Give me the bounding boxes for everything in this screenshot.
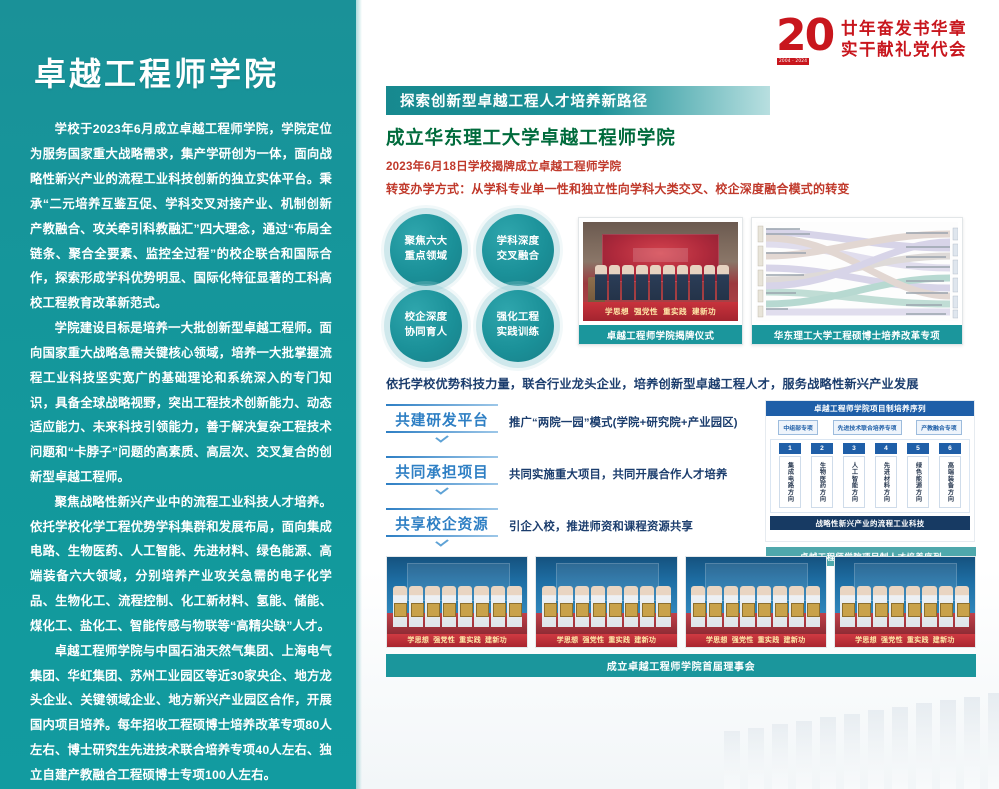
bubble-line1: 校企深度 — [405, 312, 448, 323]
sankey-diagram — [756, 222, 958, 321]
column-number: 3 — [843, 443, 865, 454]
anniversary-number: 20 — [776, 14, 832, 58]
slogan-word: 学思想 — [407, 635, 429, 645]
diagram-column: 4 先进材料方向 — [873, 443, 899, 508]
diagram-tags: 中组部专项 先进技术联合培养专项 产教融合专项 — [766, 416, 974, 437]
decorative-stripe — [796, 721, 812, 789]
key-row-platform: 共建研发平台 推广“两院一园”模式(学院+研究院+产业园区) — [386, 404, 738, 437]
anniversary-20-icon: 20 2004 · 2024 — [776, 14, 832, 66]
decorative-stripe — [844, 714, 860, 789]
diagram-columns: 1 集成电路方向 2 生物医药方向 3 人工智能方向 4 先进材料方向 5 — [770, 439, 970, 513]
slogan-word: 重实践 — [608, 635, 630, 645]
bubble-line1: 强化工程 — [497, 312, 540, 323]
bubble-practice-training: 强化工程实践训练 — [482, 290, 554, 362]
column-label: 绿色能源方向 — [907, 456, 929, 508]
intro-paragraph: 学院建设目标是培养一大批创新型卓越工程师。面向国家重大战略急需关键核心领域，培养… — [30, 316, 332, 490]
diagram-column: 1 集成电路方向 — [777, 443, 803, 508]
diagram-column: 2 生物医药方向 — [809, 443, 835, 508]
slogan-word: 建新功 — [485, 635, 507, 645]
tag-line-top — [386, 508, 498, 510]
award-group — [840, 586, 969, 627]
bubble-line2: 实践训练 — [497, 327, 540, 338]
diagram-column: 6 高端装备方向 — [937, 443, 963, 508]
decorative-stripe — [940, 700, 956, 789]
section-header-label: 探索创新型卓越工程人才培养新路径 — [400, 90, 648, 111]
column-label: 生物医药方向 — [811, 456, 833, 508]
award-photo: 学思想 强党性 重实践 建新功 — [386, 556, 528, 648]
key-row-projects: 共同承担项目 共同实施重大项目，共同开展合作人才培养 — [386, 456, 727, 489]
slogan-word: 强党性 — [433, 635, 455, 645]
diagram-column: 5 绿色能源方向 — [905, 443, 931, 508]
bubble-line2: 交叉融合 — [497, 251, 540, 262]
decorative-stripe — [916, 703, 932, 789]
sankey-svg — [756, 222, 958, 321]
column-number: 4 — [875, 443, 897, 454]
slogan-word: 建新功 — [634, 635, 656, 645]
diagram-tag: 中组部专项 — [778, 420, 817, 435]
key-tag-label: 共享校企资源 — [386, 513, 498, 534]
anniversary-years: 2004 · 2024 — [777, 58, 809, 65]
diagram-tag: 产教融合专项 — [916, 420, 961, 435]
photo-card-sankey: 华东理工大学工程硕博士培养改革专项 — [751, 217, 963, 345]
bubble-school-enterprise: 校企深度协同育人 — [390, 290, 462, 362]
decorative-stripe — [748, 728, 764, 789]
intro-body: 学校于2023年6月成立卓越工程师学院，学院定位为服务国家重大战略需求，集产学研… — [30, 117, 332, 787]
award-group — [393, 586, 522, 627]
photo-card-ceremony: 学思想 强党性 重实践 建新功 卓越工程师学院揭牌仪式 — [578, 217, 743, 345]
bubble-line2: 协同育人 — [405, 327, 448, 338]
photo-caption: 卓越工程师学院揭牌仪式 — [579, 325, 742, 344]
key-row-resources: 共享校企资源 引企入校，推进师资和课程资源共享 — [386, 508, 693, 541]
column-number: 5 — [907, 443, 929, 454]
program-structure-diagram: 卓越工程师学院项目制培养序列 中组部专项 先进技术联合培养专项 产教融合专项 1… — [765, 400, 975, 542]
key-desc: 引企入校，推进师资和课程资源共享 — [509, 518, 693, 534]
key-tag: 共建研发平台 — [386, 404, 498, 437]
bubble-focus-six-fields: 聚焦六大重点领域 — [390, 214, 462, 286]
award-group — [691, 586, 820, 627]
banner-word: 重实践 — [663, 306, 687, 317]
chevron-down-icon — [435, 432, 449, 442]
page-title: 卓越工程师学院 — [34, 55, 332, 93]
intro-paragraph: 聚焦战略性新兴产业中的流程工业科技人才培养。依托学校化学工程优势学科集群和发展布… — [30, 490, 332, 639]
bubble-line1: 聚焦六大 — [405, 236, 448, 247]
feature-bubbles: 聚焦六大重点领域 学科深度交叉融合 校企深度协同育人 强化工程实践训练 — [386, 212, 566, 352]
award-group — [542, 586, 671, 627]
column-label: 人工智能方向 — [843, 456, 865, 508]
column-label: 高端装备方向 — [939, 456, 961, 508]
bubble-discipline-integration: 学科深度交叉融合 — [482, 214, 554, 286]
subheading-transform: 转变办学方式：从学科专业单一性和独立性向学科大类交叉、校企深度融合模式的转变 — [386, 180, 850, 197]
photo-slogan: 学思想 强党性 重实践 建新功 — [387, 634, 527, 648]
award-photo: 学思想 强党性 重实践 建新功 — [535, 556, 677, 648]
main-heading: 成立华东理工大学卓越工程师学院 — [386, 124, 676, 150]
key-desc: 推广“两院一园”模式(学院+研究院+产业园区) — [509, 414, 738, 430]
decorative-stripe — [892, 707, 908, 789]
left-intro-panel: 卓越工程师学院 学校于2023年6月成立卓越工程师学院，学院定位为服务国家重大战… — [0, 0, 356, 789]
diagram-title: 卓越工程师学院项目制培养序列 — [766, 401, 974, 416]
diagram-column: 3 人工智能方向 — [841, 443, 867, 508]
bubble-line1: 学科深度 — [497, 236, 540, 247]
decorative-stripe — [964, 697, 980, 789]
section-header-bar: 探索创新型卓越工程人才培养新路径 — [386, 86, 770, 115]
column-number: 1 — [779, 443, 801, 454]
intro-paragraph: 卓越工程师学院与中国石油天然气集团、上海电气集团、华虹集团、苏州工业园区等近30… — [30, 639, 332, 788]
slogan-word: 重实践 — [459, 635, 481, 645]
banner-word: 强党性 — [634, 306, 658, 317]
column-number: 2 — [811, 443, 833, 454]
intro-paragraph: 学校于2023年6月成立卓越工程师学院，学院定位为服务国家重大战略需求，集产学研… — [30, 117, 332, 316]
slogan-word: 强党性 — [582, 635, 604, 645]
chevron-down-icon — [435, 536, 449, 546]
photo-slogan: 学思想 强党性 重实践 建新功 — [536, 634, 676, 648]
anniversary-slogan-line2: 实干献礼党代会 — [841, 40, 967, 61]
key-tag: 共同承担项目 — [386, 456, 498, 489]
anniversary-slogan: 廿年奋发书华章 实干献礼党代会 — [841, 19, 967, 61]
anniversary-slogan-line1: 廿年奋发书华章 — [841, 19, 967, 40]
decorative-stripe — [724, 731, 740, 789]
ceremony-photo: 学思想 强党性 重实践 建新功 — [583, 222, 738, 321]
decorative-stripe — [988, 693, 999, 789]
decorative-stripes — [724, 629, 999, 789]
diagram-navy-band: 战略性新兴产业的流程工业科技 — [770, 516, 970, 530]
key-tag: 共享校企资源 — [386, 508, 498, 541]
decorative-stripe — [772, 724, 788, 789]
decorative-stripe — [868, 710, 884, 789]
bubble-line2: 重点领域 — [405, 251, 448, 262]
right-content: 20 2004 · 2024 廿年奋发书华章 实干献礼党代会 探索创新型卓越工程… — [362, 0, 999, 789]
diagram-tag: 先进技术联合培养专项 — [833, 420, 902, 435]
people-row — [595, 265, 728, 301]
slogan-word: 学思想 — [557, 635, 579, 645]
key-desc: 共同实施重大项目，共同开展合作人才培养 — [509, 466, 727, 482]
decorative-stripe — [820, 717, 836, 789]
chevron-down-icon — [435, 484, 449, 494]
column-label: 先进材料方向 — [875, 456, 897, 508]
stage-banner: 学思想 强党性 重实践 建新功 — [583, 302, 738, 321]
mid-statement: 依托学校优势科技力量，联合行业龙头企业，培养创新型卓越工程人才，服务战略性新兴产… — [386, 374, 919, 392]
key-tag-label: 共建研发平台 — [386, 409, 498, 430]
poster-page: 卓越工程师学院 学校于2023年6月成立卓越工程师学院，学院定位为服务国家重大战… — [0, 0, 999, 789]
photo-caption: 华东理工大学工程硕博士培养改革专项 — [752, 325, 962, 344]
key-tag-label: 共同承担项目 — [386, 461, 498, 482]
subheading-date: 2023年6月18日学校揭牌成立卓越工程师学院 — [386, 158, 621, 174]
tag-line-top — [386, 456, 498, 458]
column-label: 集成电路方向 — [779, 456, 801, 508]
banner-word: 建新功 — [692, 306, 716, 317]
tag-line-top — [386, 404, 498, 406]
column-number: 6 — [939, 443, 961, 454]
banner-word: 学思想 — [605, 306, 629, 317]
anniversary-logo: 20 2004 · 2024 廿年奋发书华章 实干献礼党代会 — [776, 14, 967, 66]
